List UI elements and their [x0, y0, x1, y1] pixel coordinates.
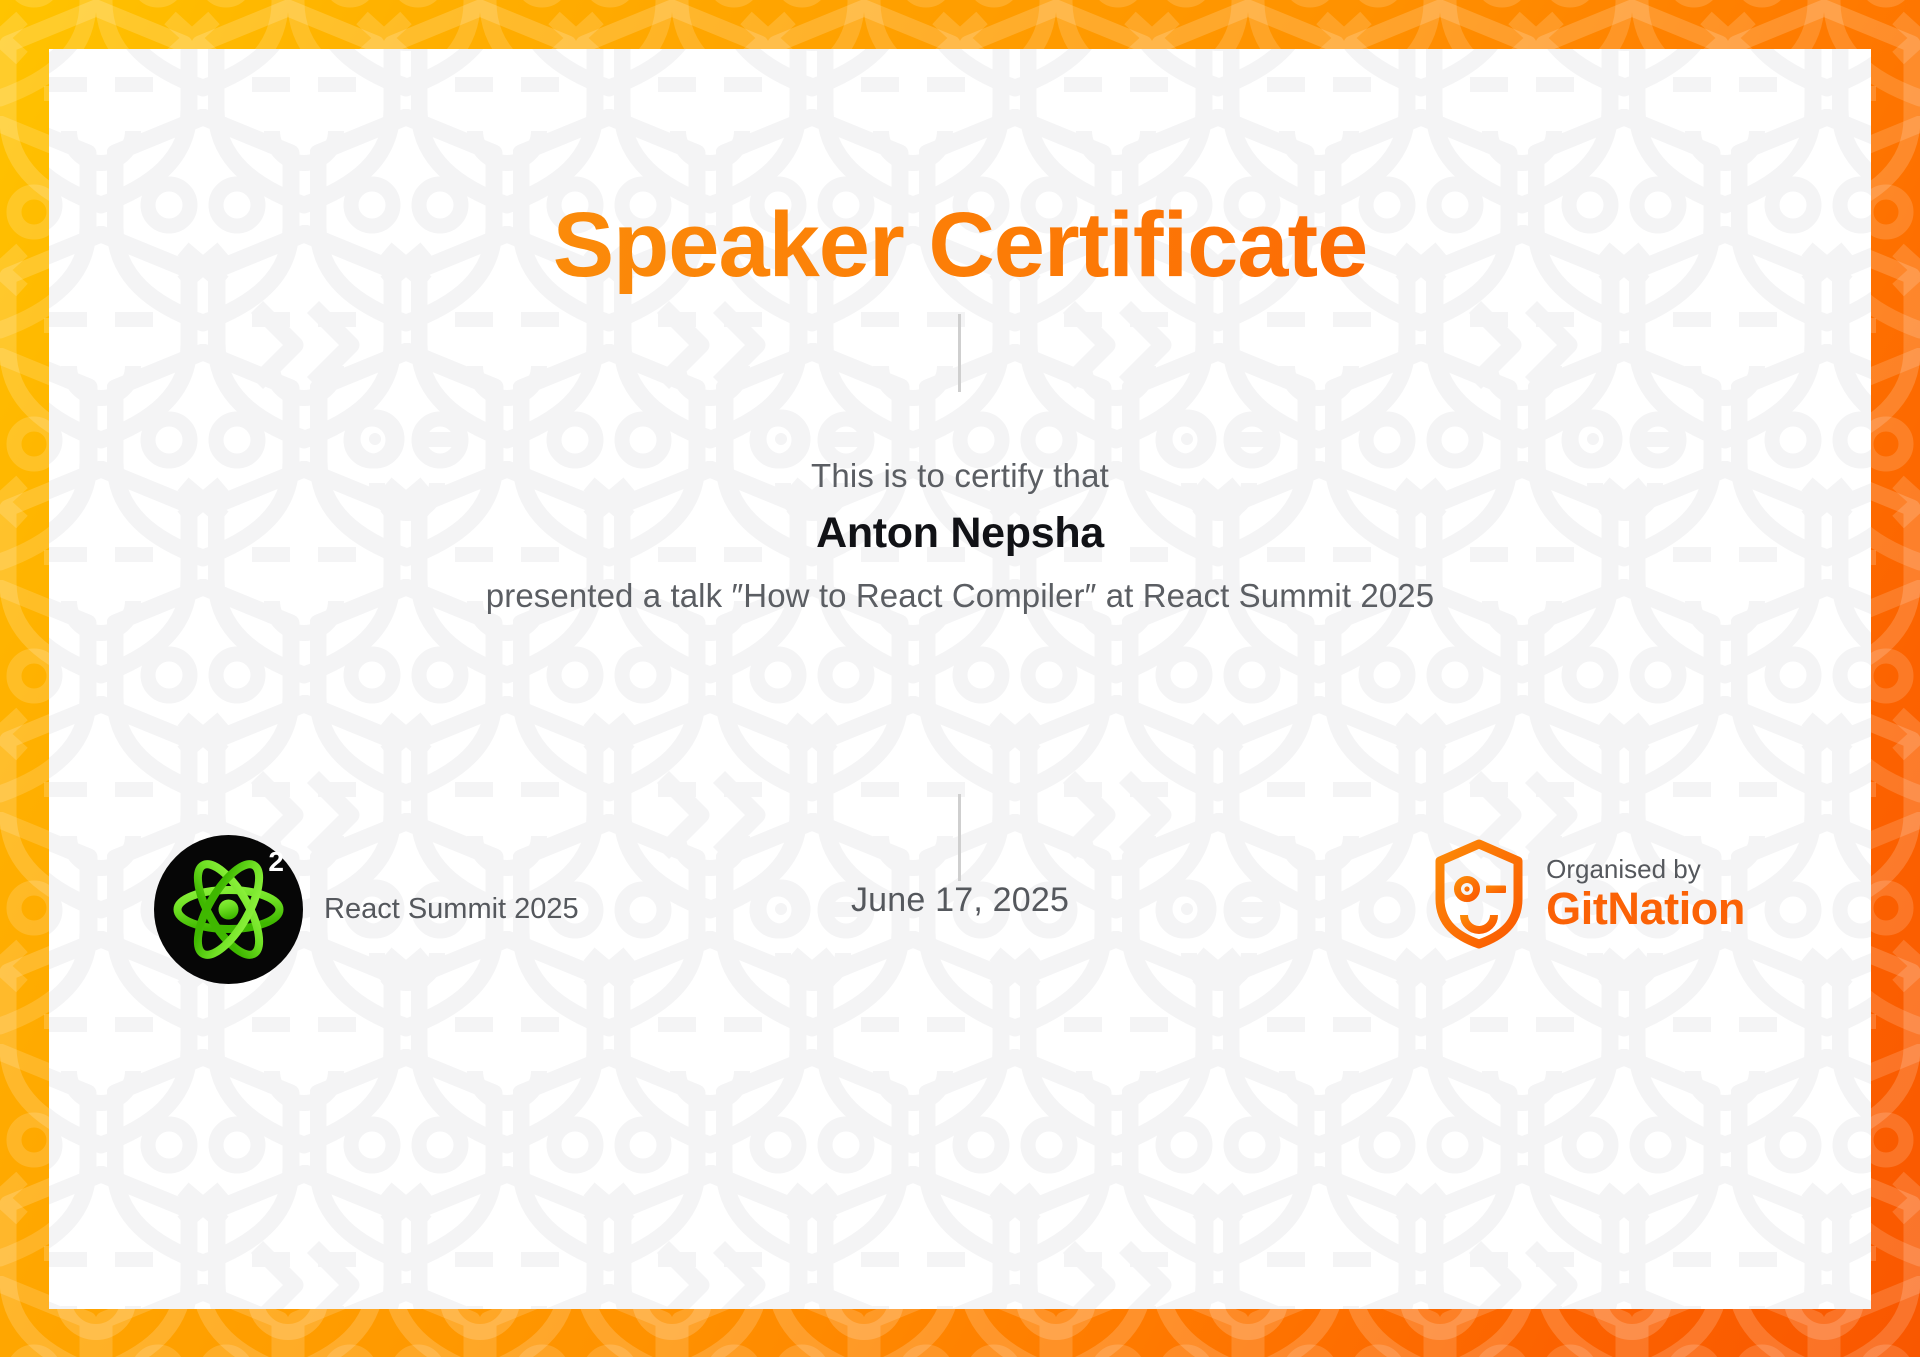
talk-description: presented a talk ″How to React Compiler″…: [49, 577, 1871, 615]
organiser-block: Organised by GitNation: [1433, 839, 1745, 949]
organiser-name: GitNation: [1546, 885, 1745, 934]
gitnation-shield-mask-icon: [1433, 839, 1525, 949]
card-content: Speaker Certificate This is to certify t…: [49, 49, 1871, 1309]
certificate-footer: 2 React Summit 2025 June 17, 2025: [49, 811, 1871, 1011]
react-summit-logo-superscript: 2: [268, 848, 284, 876]
recipient-name: Anton Nepsha: [49, 509, 1871, 558]
certificate-card: Speaker Certificate This is to certify t…: [49, 49, 1871, 1309]
organiser-text: Organised by GitNation: [1546, 855, 1745, 934]
certificate-canvas: Speaker Certificate This is to certify t…: [0, 0, 1920, 1357]
organised-by-label: Organised by: [1546, 855, 1745, 883]
page-title: Speaker Certificate: [49, 197, 1871, 294]
divider-top: [958, 314, 961, 392]
certify-line: This is to certify that: [49, 457, 1871, 495]
